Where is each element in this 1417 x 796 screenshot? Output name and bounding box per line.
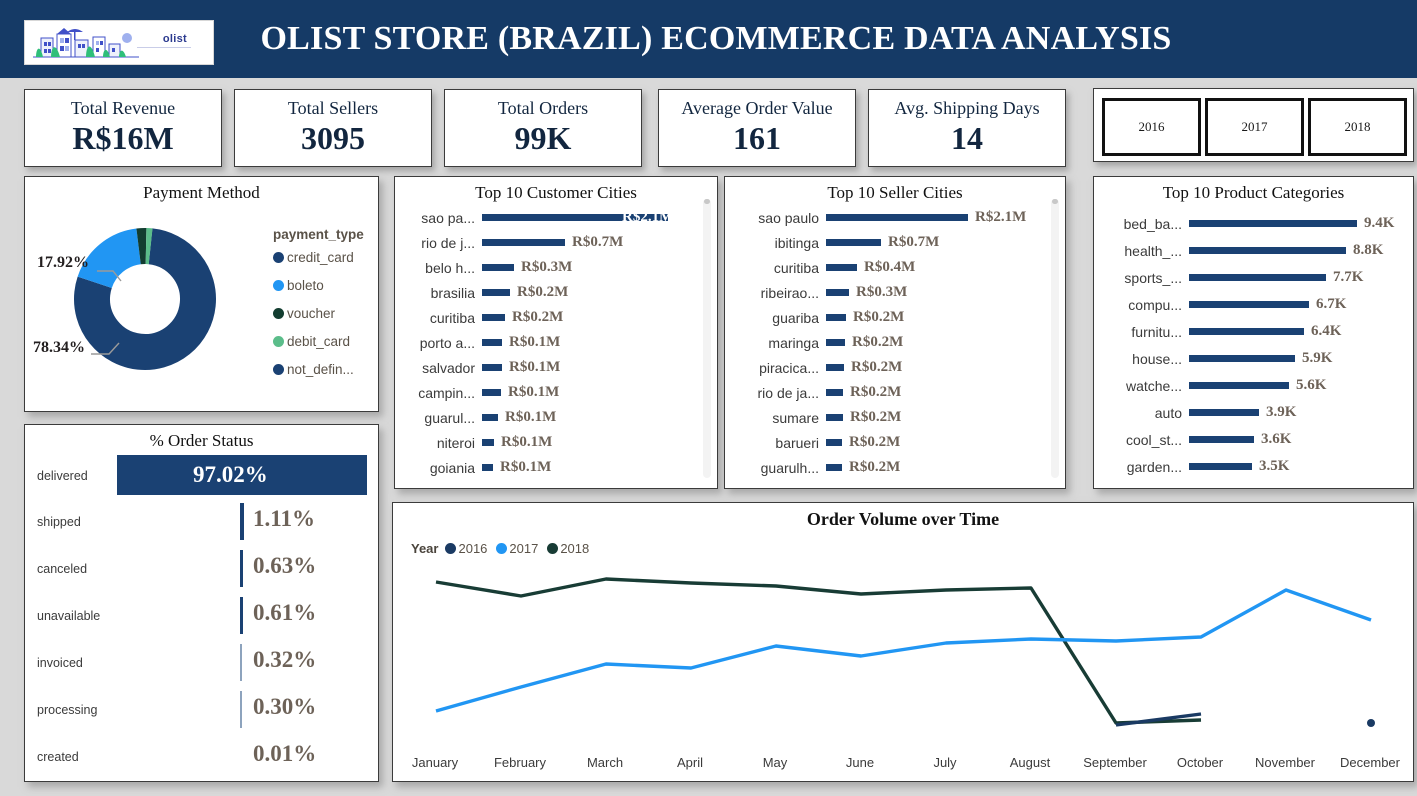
bar-label: rio de ja... — [725, 385, 819, 401]
x-tick-label: March — [587, 755, 623, 770]
seller-cities-panel: Top 10 Seller Cities sao pauloR$2.1M ibi… — [724, 176, 1066, 489]
legend-label: voucher — [287, 306, 335, 321]
order-status-bar — [240, 550, 243, 587]
bar-label: ribeirao... — [725, 285, 819, 301]
order-status-label: created — [37, 750, 79, 764]
order-volume-line-chart[interactable] — [393, 563, 1411, 741]
bar-value: R$0.1M — [500, 459, 551, 476]
bar-label: bed_ba... — [1094, 216, 1182, 232]
bar — [482, 464, 493, 471]
bar-label: sports_... — [1094, 270, 1182, 286]
order-status-value: 0.32% — [253, 647, 316, 673]
bar-label: piracica... — [725, 360, 819, 376]
bar-value: R$0.1M — [501, 434, 552, 451]
x-tick-label: September — [1083, 755, 1147, 770]
customer-cities-title: Top 10 Customer Cities — [395, 183, 717, 203]
bar — [826, 239, 881, 246]
bar-row[interactable]: barueriR$0.2M — [725, 434, 1065, 451]
legend-color-swatch-icon — [547, 543, 558, 554]
bar-row[interactable]: ribeirao...R$0.3M — [725, 284, 1065, 301]
kpi-card-total-revenue: Total Revenue R$16M — [24, 89, 222, 167]
order-status-row[interactable]: created 0.01% — [25, 734, 378, 780]
legend-color-swatch-icon — [445, 543, 456, 554]
x-tick-label: January — [412, 755, 458, 770]
legend-item-credit-card[interactable]: credit_card — [273, 250, 364, 265]
bar-value: R$0.2M — [852, 334, 903, 351]
product-categories-title: Top 10 Product Categories — [1094, 183, 1413, 203]
kpi-title: Total Sellers — [235, 98, 431, 119]
donut-callout-credit-card: 78.34% — [33, 339, 85, 357]
order-status-value: 0.01% — [253, 741, 316, 767]
bar-row[interactable]: belo h...R$0.3M — [395, 259, 717, 276]
order-status-bar — [240, 691, 242, 728]
year-slicer-option-2017[interactable]: 2017 — [1205, 98, 1304, 156]
legend-item-debit-card[interactable]: debit_card — [273, 334, 364, 349]
bar-row[interactable]: rio de ja...R$0.2M — [725, 384, 1065, 401]
bar-row[interactable]: goianiaR$0.1M — [395, 459, 717, 476]
order-volume-panel: Order Volume over Time Year 2016 2017 20… — [392, 502, 1414, 782]
bar-row[interactable]: bed_ba...9.4K — [1094, 215, 1413, 232]
bar-row[interactable]: porto a...R$0.1M — [395, 334, 717, 351]
bar-label: niteroi — [395, 435, 475, 451]
legend-color-swatch-icon — [496, 543, 507, 554]
legend-item-2016[interactable]: 2016 — [445, 541, 487, 556]
bar-label: goiania — [395, 460, 475, 476]
bar-row[interactable]: rio de j...R$0.7M — [395, 234, 717, 251]
bar-value: R$0.1M — [509, 334, 560, 351]
bar-row[interactable]: compu...6.7K — [1094, 296, 1413, 313]
bar-value: R$0.2M — [850, 409, 901, 426]
legend-label: not_defin... — [287, 362, 354, 377]
bar-value: R$0.7M — [888, 234, 939, 251]
bar-label: guariba — [725, 310, 819, 326]
bar-label: curitiba — [395, 310, 475, 326]
bar-label: maringa — [725, 335, 819, 351]
bar-value: R$0.3M — [521, 259, 572, 276]
kpi-title: Total Orders — [445, 98, 641, 119]
bar-value: 9.4K — [1364, 215, 1394, 232]
donut-chart-svg — [35, 209, 255, 389]
year-slicer-option-2018[interactable]: 2018 — [1308, 98, 1407, 156]
bar-label: guarul... — [395, 410, 475, 426]
kpi-title: Average Order Value — [659, 98, 855, 119]
x-tick-label: July — [933, 755, 956, 770]
bar-label: sao paulo — [725, 210, 819, 226]
bar-value: R$2.1M — [622, 209, 673, 226]
bar-value: 5.6K — [1296, 377, 1326, 394]
bar-label: rio de j... — [395, 235, 475, 251]
payment-method-title: Payment Method — [25, 183, 378, 203]
bar-value: R$0.2M — [851, 359, 902, 376]
bar-value: 6.4K — [1311, 323, 1341, 340]
bar — [1189, 409, 1259, 416]
x-tick-label: December — [1340, 755, 1400, 770]
legend-title: payment_type — [273, 227, 364, 242]
order-status-value: 0.63% — [253, 553, 316, 579]
order-status-label: invoiced — [37, 656, 83, 670]
bar — [826, 339, 845, 346]
bar-row[interactable]: salvadorR$0.1M — [395, 359, 717, 376]
bar — [1189, 247, 1346, 254]
order-status-row[interactable]: unavailable 0.61% — [25, 593, 378, 639]
bar-label: sumare — [725, 410, 819, 426]
bar — [1189, 436, 1254, 443]
scrollbar-thumb[interactable] — [704, 199, 710, 204]
customer-cities-scrollbar[interactable] — [703, 199, 711, 478]
bar-row[interactable]: guarulh...R$0.2M — [725, 459, 1065, 476]
order-status-panel: % Order Status delivered 97.02% shipped … — [24, 424, 379, 782]
bar-label: campin... — [395, 385, 475, 401]
payment-method-panel: Payment Method 17.92% 78.34% — [24, 176, 379, 412]
bar-value: R$0.2M — [849, 434, 900, 451]
bar-row[interactable]: curitibaR$0.2M — [395, 309, 717, 326]
legend-label: 2017 — [509, 541, 538, 556]
legend-label: credit_card — [287, 250, 354, 265]
bar — [1189, 355, 1295, 362]
olist-logo: olist — [24, 20, 214, 65]
bar-label: garden... — [1094, 459, 1182, 475]
order-status-label: processing — [37, 703, 97, 717]
bar-row[interactable]: brasiliaR$0.2M — [395, 284, 717, 301]
order-status-label: shipped — [37, 515, 81, 529]
bar-label: barueri — [725, 435, 819, 451]
logo-underline — [137, 47, 191, 50]
bar — [482, 339, 502, 346]
order-status-value: 0.61% — [253, 600, 316, 626]
order-volume-title: Order Volume over Time — [393, 509, 1413, 530]
bar — [482, 439, 494, 446]
order-status-value: 1.11% — [253, 506, 315, 532]
bar-row[interactable]: ibitingaR$0.7M — [725, 234, 1065, 251]
x-tick-label: November — [1255, 755, 1315, 770]
bar-label: health_... — [1094, 243, 1182, 259]
bar-value: 6.7K — [1316, 296, 1346, 313]
bar-label: sao pa... — [395, 210, 475, 226]
x-tick-label: May — [763, 755, 788, 770]
bar-value: 3.6K — [1261, 431, 1291, 448]
legend-color-swatch-icon — [273, 364, 284, 375]
bar-label: porto a... — [395, 335, 475, 351]
bar — [1189, 301, 1309, 308]
kpi-value: 14 — [869, 120, 1065, 157]
logo-wordmark: olist — [163, 33, 187, 45]
order-status-bar — [240, 503, 244, 540]
kpi-title: Total Revenue — [25, 98, 221, 119]
legend-item-boleto[interactable]: boleto — [273, 278, 364, 293]
bar — [482, 414, 498, 421]
order-status-value: 0.30% — [253, 694, 316, 720]
legend-label: 2016 — [458, 541, 487, 556]
legend-item-not-defined[interactable]: not_defin... — [273, 362, 364, 377]
bar-label: guarulh... — [725, 460, 819, 476]
order-status-bar — [240, 597, 243, 634]
legend-color-swatch-icon — [273, 336, 284, 347]
bar-row[interactable]: guaribaR$0.2M — [725, 309, 1065, 326]
legend-label: debit_card — [287, 334, 350, 349]
bar-value: R$0.4M — [864, 259, 915, 276]
bar — [826, 289, 849, 296]
page-title: OLIST STORE (BRAZIL) ECOMMERCE DATA ANAL… — [236, 16, 1196, 62]
order-status-row[interactable]: processing 0.30% — [25, 687, 378, 733]
x-tick-label: June — [846, 755, 874, 770]
kpi-value: R$16M — [25, 120, 221, 157]
year-slicer[interactable]: 2016 2017 2018 — [1093, 88, 1414, 162]
order-volume-x-axis: January February March April May June Ju… — [393, 755, 1413, 773]
donut-callout-boleto: 17.92% — [37, 254, 89, 272]
kpi-value: 161 — [659, 120, 855, 157]
bar-row[interactable]: furnitu...6.4K — [1094, 323, 1413, 340]
bar-row[interactable]: house...5.9K — [1094, 350, 1413, 367]
year-slicer-option-2016[interactable]: 2016 — [1102, 98, 1201, 156]
bar-row[interactable]: sao pa...R$2.1M — [395, 209, 717, 226]
kpi-value: 3095 — [235, 120, 431, 157]
legend-title: Year — [411, 541, 438, 556]
kpi-card-total-orders: Total Orders 99K — [444, 89, 642, 167]
bar-value: R$0.7M — [572, 234, 623, 251]
product-categories-chart[interactable]: bed_ba...9.4K health_...8.8K sports_...7… — [1094, 207, 1413, 484]
bar-row[interactable]: sao pauloR$2.1M — [725, 209, 1065, 226]
kpi-value: 99K — [445, 120, 641, 157]
bar — [1189, 328, 1304, 335]
bar-row[interactable]: watche...5.6K — [1094, 377, 1413, 394]
order-status-row[interactable]: delivered 97.02% — [25, 453, 378, 499]
bar-row[interactable]: health_...8.8K — [1094, 242, 1413, 259]
bar-row[interactable]: sports_...7.7K — [1094, 269, 1413, 286]
bar-value: R$0.1M — [508, 384, 559, 401]
bar-row[interactable]: guarul...R$0.1M — [395, 409, 717, 426]
bar — [482, 289, 510, 296]
bar — [826, 414, 843, 421]
bar — [1189, 274, 1326, 281]
bar-value: 7.7K — [1333, 269, 1363, 286]
bar-label: belo h... — [395, 260, 475, 276]
customer-cities-panel: Top 10 Customer Cities sao pa...R$2.1M r… — [394, 176, 718, 489]
legend-color-swatch-icon — [273, 280, 284, 291]
bar — [482, 314, 505, 321]
legend-color-swatch-icon — [273, 308, 284, 319]
legend-item-2018[interactable]: 2018 — [547, 541, 589, 556]
legend-label: 2018 — [560, 541, 589, 556]
bar-value: 3.5K — [1259, 458, 1289, 475]
bar-label: cool_st... — [1094, 432, 1182, 448]
bar-row[interactable]: cool_st...3.6K — [1094, 431, 1413, 448]
legend-item-2017[interactable]: 2017 — [496, 541, 538, 556]
scrollbar-thumb[interactable] — [1052, 199, 1058, 204]
bar-row[interactable]: garden...3.5K — [1094, 458, 1413, 475]
bar — [482, 364, 502, 371]
bar — [482, 389, 501, 396]
bar — [826, 389, 843, 396]
order-status-value: 97.02% — [193, 462, 268, 488]
bar — [826, 264, 857, 271]
bar-label: brasilia — [395, 285, 475, 301]
bar-value: R$0.1M — [509, 359, 560, 376]
order-status-label: delivered — [37, 469, 88, 483]
bar — [1189, 220, 1357, 227]
x-tick-label: August — [1010, 755, 1050, 770]
bar-label: auto — [1094, 405, 1182, 421]
bar — [826, 464, 842, 471]
bar-row[interactable]: sumareR$0.2M — [725, 409, 1065, 426]
bar-value: R$0.2M — [849, 459, 900, 476]
bar-value: R$0.2M — [517, 284, 568, 301]
bar — [826, 364, 844, 371]
kpi-card-avg-shipping-days: Avg. Shipping Days 14 — [868, 89, 1066, 167]
order-status-row[interactable]: canceled 0.63% — [25, 546, 378, 592]
bar-value: R$0.2M — [853, 309, 904, 326]
bar-row[interactable]: piracica...R$0.2M — [725, 359, 1065, 376]
seller-cities-scrollbar[interactable] — [1051, 199, 1059, 478]
order-status-label: unavailable — [37, 609, 100, 623]
bar-value: 8.8K — [1353, 242, 1383, 259]
bar — [482, 264, 514, 271]
bar — [826, 439, 842, 446]
payment-method-legend: payment_type credit_card boleto voucher … — [273, 227, 364, 390]
legend-item-voucher[interactable]: voucher — [273, 306, 364, 321]
payment-method-donut[interactable]: 17.92% 78.34% — [35, 209, 255, 389]
legend-label: boleto — [287, 278, 324, 293]
order-status-row[interactable]: shipped 1.11% — [25, 499, 378, 545]
bar-row[interactable]: niteroiR$0.1M — [395, 434, 717, 451]
seller-cities-chart[interactable]: sao pauloR$2.1M ibitingaR$0.7M curitibaR… — [725, 207, 1065, 484]
bar — [1189, 463, 1252, 470]
bar-value: R$0.2M — [512, 309, 563, 326]
customer-cities-chart[interactable]: sao pa...R$2.1M rio de j...R$0.7M belo h… — [395, 207, 717, 484]
order-status-title: % Order Status — [25, 431, 378, 451]
kpi-title: Avg. Shipping Days — [869, 98, 1065, 119]
bar-value: R$0.1M — [505, 409, 556, 426]
bar — [826, 214, 968, 221]
bar-row[interactable]: campin...R$0.1M — [395, 384, 717, 401]
order-volume-legend: Year 2016 2017 2018 — [411, 541, 598, 556]
bar-label: salvador — [395, 360, 475, 376]
kpi-card-average-order-value: Average Order Value 161 — [658, 89, 856, 167]
bar-label: house... — [1094, 351, 1182, 367]
dashboard-page: olist OLIST STORE (BRAZIL) ECOMMERCE DAT… — [0, 0, 1417, 796]
bar — [826, 314, 846, 321]
legend-color-swatch-icon — [273, 252, 284, 263]
kpi-card-total-sellers: Total Sellers 3095 — [234, 89, 432, 167]
bar — [482, 239, 565, 246]
bar-label: curitiba — [725, 260, 819, 276]
bar-value: R$2.1M — [975, 209, 1026, 226]
bar-label: furnitu... — [1094, 324, 1182, 340]
x-tick-label: October — [1177, 755, 1223, 770]
dashboard-header: olist OLIST STORE (BRAZIL) ECOMMERCE DAT… — [0, 0, 1417, 78]
bar-label: ibitinga — [725, 235, 819, 251]
bar-label: watche... — [1094, 378, 1182, 394]
order-status-label: canceled — [37, 562, 87, 576]
product-categories-panel: Top 10 Product Categories bed_ba...9.4K … — [1093, 176, 1414, 489]
bar-value: R$0.3M — [856, 284, 907, 301]
x-tick-label: February — [494, 755, 546, 770]
bar-value: 3.9K — [1266, 404, 1296, 421]
order-status-row[interactable]: invoiced 0.32% — [25, 640, 378, 686]
bar-label: compu... — [1094, 297, 1182, 313]
x-tick-label: April — [677, 755, 703, 770]
bar-value: 5.9K — [1302, 350, 1332, 367]
bar — [1189, 382, 1289, 389]
bar-value: R$0.2M — [850, 384, 901, 401]
bar-row[interactable]: curitibaR$0.4M — [725, 259, 1065, 276]
seller-cities-title: Top 10 Seller Cities — [725, 183, 1065, 203]
bar-row[interactable]: maringaR$0.2M — [725, 334, 1065, 351]
logo-illustration — [31, 24, 141, 61]
order-status-bar — [240, 644, 242, 681]
bar-row[interactable]: auto3.9K — [1094, 404, 1413, 421]
